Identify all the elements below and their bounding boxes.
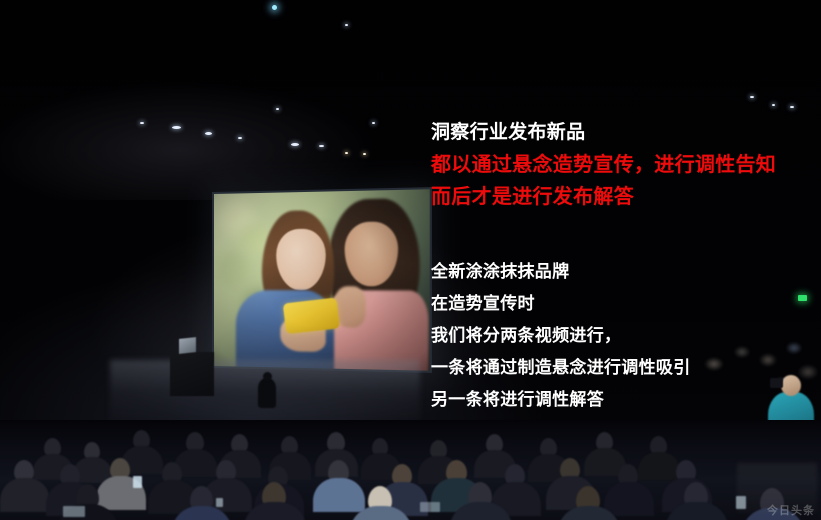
ceiling-light-icon — [345, 152, 348, 154]
stage-speaker-head — [263, 372, 272, 381]
exit-sign-icon — [798, 295, 807, 301]
body-line-1: 全新涂涂抹抹品牌 — [431, 256, 691, 288]
headline-line-3: 而后才是进行发布解答 — [431, 180, 776, 212]
headline-text-block: 洞察行业发布新品 都以通过悬念造势宣传，进行调性告知 而后才是进行发布解答 — [431, 116, 776, 212]
body-line-5: 另一条将进行调性解答 — [431, 384, 691, 416]
ceiling-light-icon — [276, 108, 279, 110]
watermark-text: 今日头条 — [767, 502, 815, 518]
ceiling-light-icon — [772, 104, 775, 106]
auditorium-photo: 今日头条 — [0, 0, 821, 520]
ceiling-light-icon — [363, 153, 366, 155]
ceiling-light-icon — [272, 5, 277, 10]
projection-screen — [214, 189, 430, 370]
screenshot-root: 今日头条 洞察行业发布新品 都以通过悬念造势宣传，进行调性告知 而后才是进行发布… — [0, 0, 821, 520]
ceiling-light-icon — [291, 143, 299, 146]
ceiling-light-icon — [750, 96, 754, 98]
body-line-4: 一条将通过制造悬念进行调性吸引 — [431, 352, 691, 384]
audience-laptop-screen — [420, 502, 440, 512]
body-line-2: 在造势宣传时 — [431, 288, 691, 320]
audience-shoulders — [0, 478, 50, 512]
photographer-head — [781, 375, 801, 396]
audience-laptop-screen — [63, 506, 85, 517]
stage-podium — [170, 352, 214, 396]
ceiling-light-icon — [238, 137, 242, 139]
slide-yellow-phone-icon — [283, 297, 340, 334]
ceiling-light-icon — [345, 24, 348, 26]
audience-seating — [0, 420, 821, 520]
headline-line-1: 洞察行业发布新品 — [431, 116, 776, 148]
ceiling-light-icon — [319, 145, 324, 147]
bokeh-blob — [216, 250, 250, 290]
ceiling-haze — [0, 0, 421, 200]
ceiling-light-icon — [172, 126, 181, 129]
stage-laptop-icon — [179, 337, 196, 354]
ceiling-light-icon — [140, 122, 144, 124]
body-line-3: 我们将分两条视频进行， — [431, 320, 691, 352]
audience-phone-screen — [216, 498, 223, 507]
body-text-block: 全新涂涂抹抹品牌 在造势宣传时 我们将分两条视频进行， 一条将通过制造悬念进行调… — [431, 256, 691, 416]
headline-line-2: 都以通过悬念造势宣传，进行调性告知 — [431, 148, 776, 180]
stage-speaker-body — [258, 378, 276, 408]
audience-phone-screen — [133, 476, 142, 488]
audience-shoulders — [638, 452, 680, 480]
ceiling-light-icon — [372, 122, 375, 124]
ceiling-light-icon — [790, 106, 794, 108]
audience-upper-right — [690, 330, 821, 396]
projection-screen-content — [214, 189, 430, 370]
audience-shoulders — [313, 478, 365, 512]
audience-shoulders — [604, 482, 654, 516]
ceiling-light-icon — [205, 132, 212, 135]
camera-icon — [770, 378, 783, 388]
